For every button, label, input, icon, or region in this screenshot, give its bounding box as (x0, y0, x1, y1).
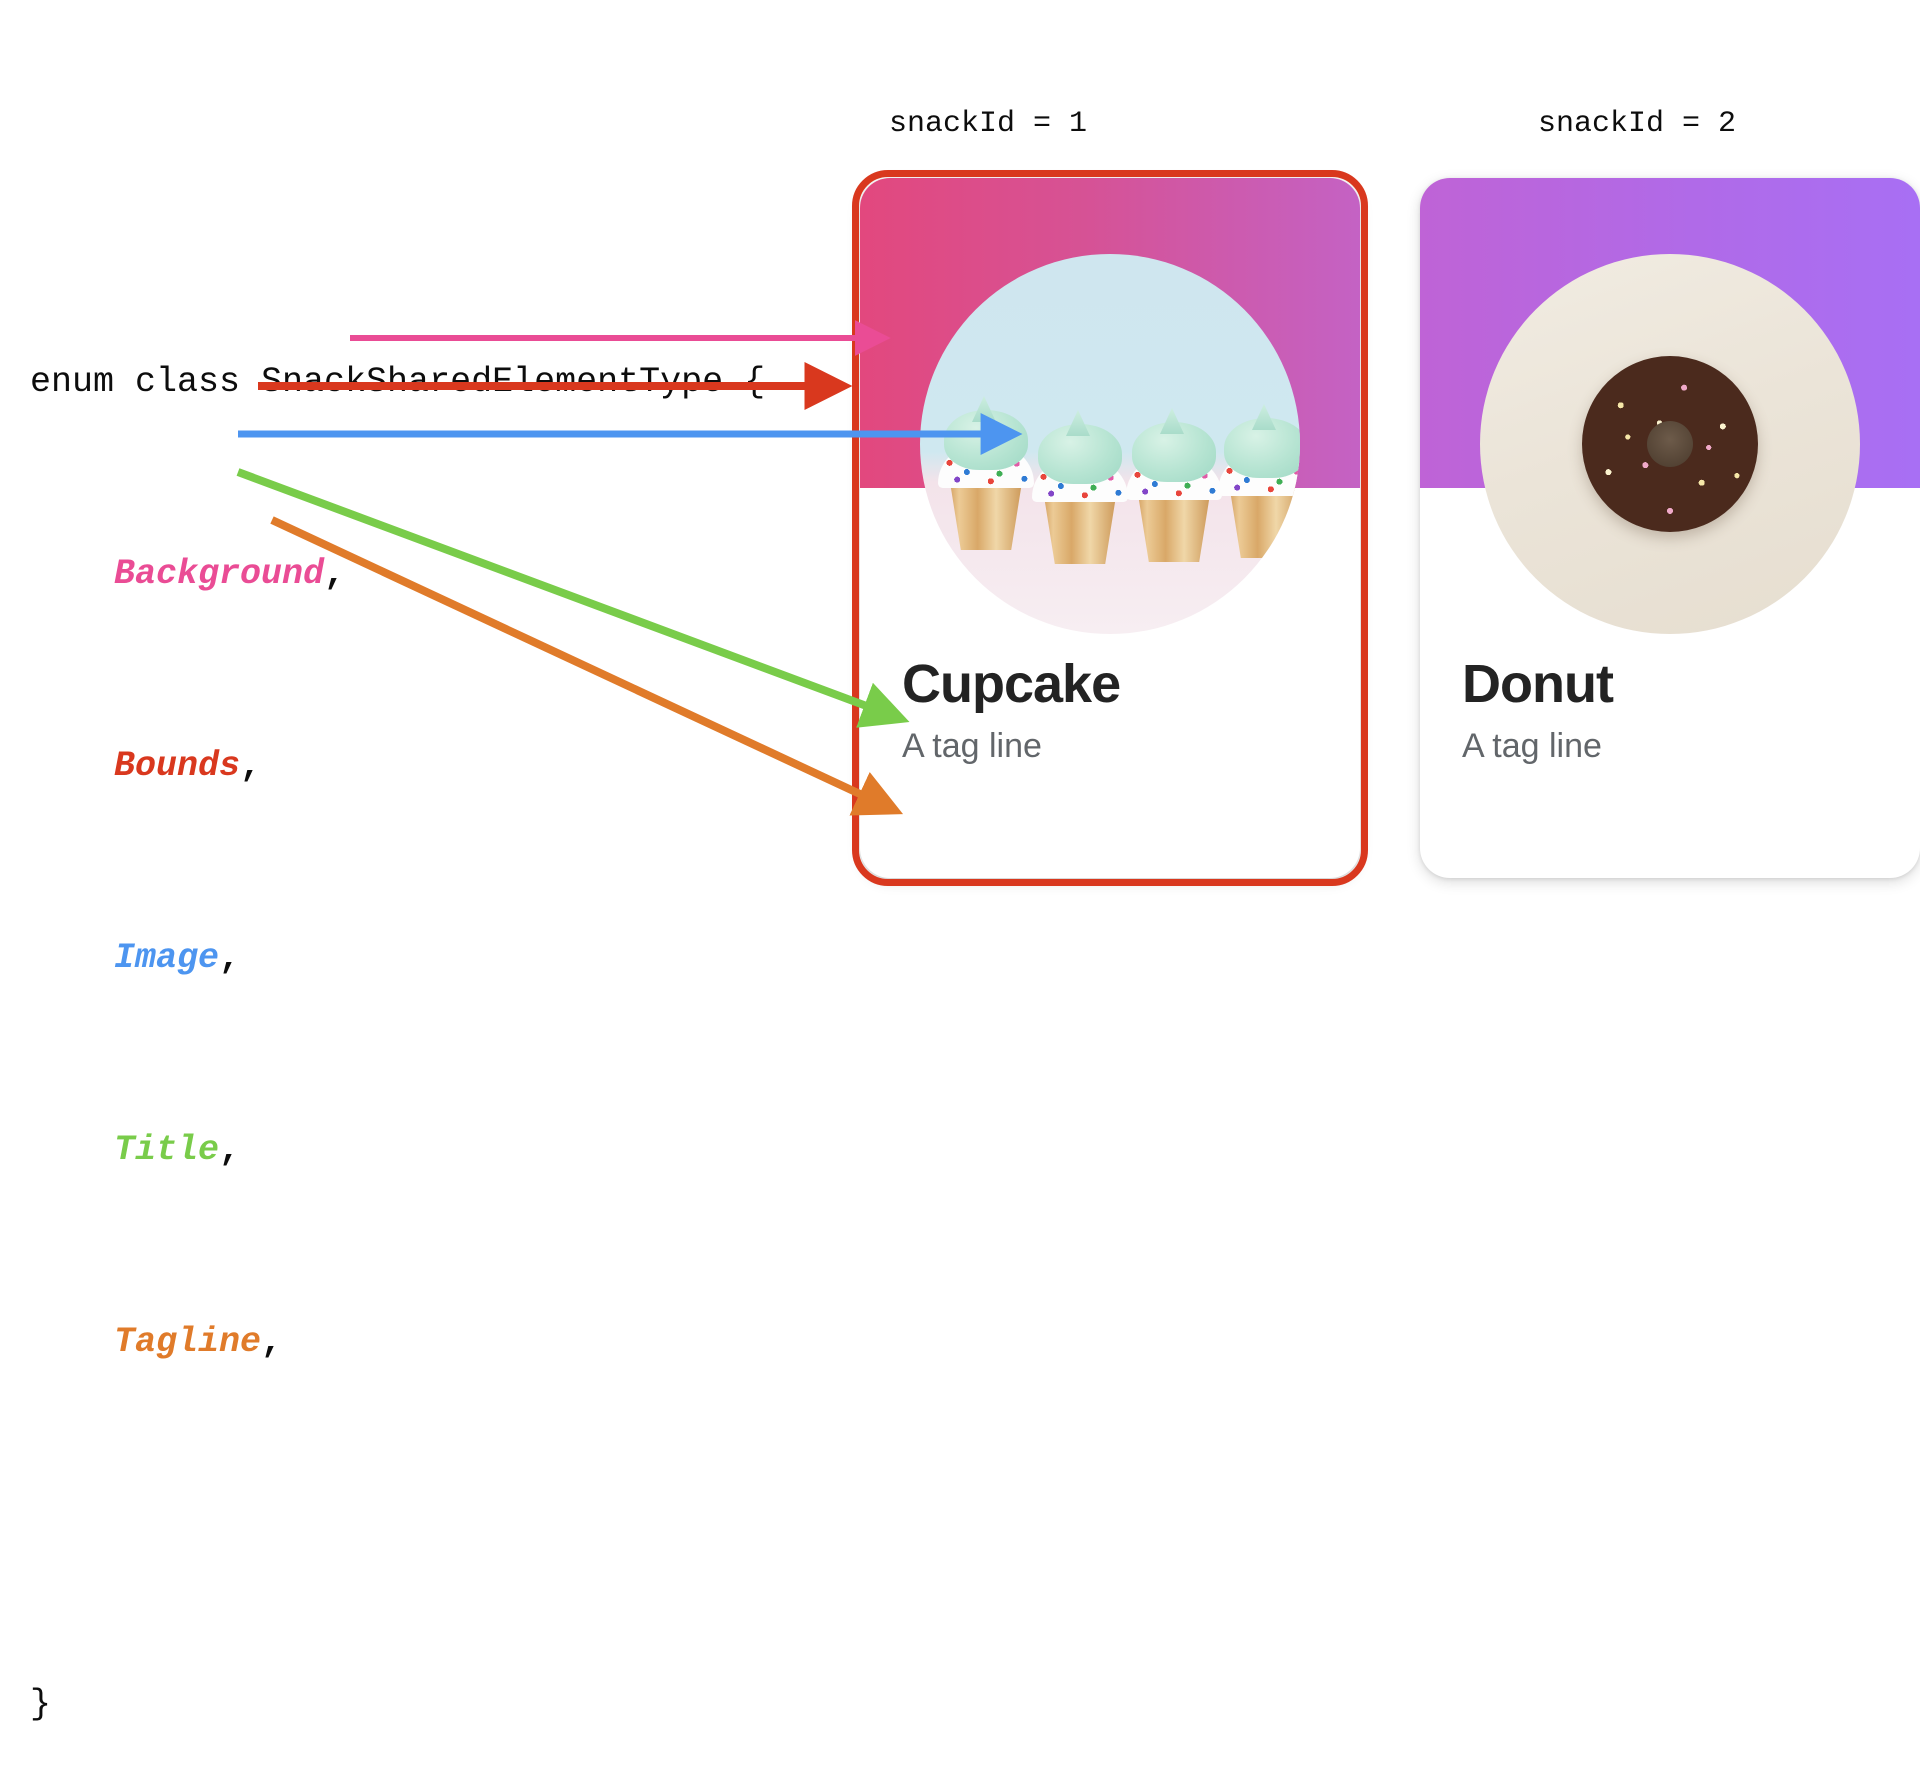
donut-hole (1647, 421, 1693, 467)
code-line-closing-brace: } (30, 1680, 765, 1728)
enum-entry-background: Background (114, 554, 324, 594)
code-line-tagline: Tagline, (30, 1318, 765, 1366)
enum-entry-image: Image (114, 938, 219, 978)
card-header-snackid-2: snackId = 2 (1538, 107, 1736, 141)
enum-entry-title: Title (114, 1130, 219, 1170)
comma-image: , (219, 938, 240, 978)
donut-ring (1582, 356, 1758, 532)
card-header-snackid-1: snackId = 1 (889, 107, 1087, 141)
snack-card-donut[interactable]: Donut A tag line (1420, 178, 1920, 878)
card-photo-donut (1480, 254, 1860, 634)
card-tagline: A tag line (1462, 727, 1890, 766)
comma-tagline: , (261, 1322, 282, 1362)
code-line-declaration: enum class SnackSharedElementType { (30, 358, 765, 406)
code-snippet: enum class SnackSharedElementType { Back… (30, 262, 765, 1776)
code-line-background: Background, (30, 550, 765, 598)
code-line-bounds: Bounds, (30, 742, 765, 790)
enum-entry-tagline: Tagline (114, 1322, 261, 1362)
card-text-block: Donut A tag line (1462, 656, 1890, 766)
donut-image (1480, 254, 1860, 634)
card-title: Donut (1462, 656, 1890, 713)
comma-background: , (324, 554, 345, 594)
bounds-outline-annotation (852, 170, 1368, 886)
comma-bounds: , (240, 746, 261, 786)
code-blank-line (30, 1510, 765, 1536)
comma-title: , (219, 1130, 240, 1170)
enum-entry-bounds: Bounds (114, 746, 240, 786)
code-line-image: Image, (30, 934, 765, 982)
code-line-title: Title, (30, 1126, 765, 1174)
